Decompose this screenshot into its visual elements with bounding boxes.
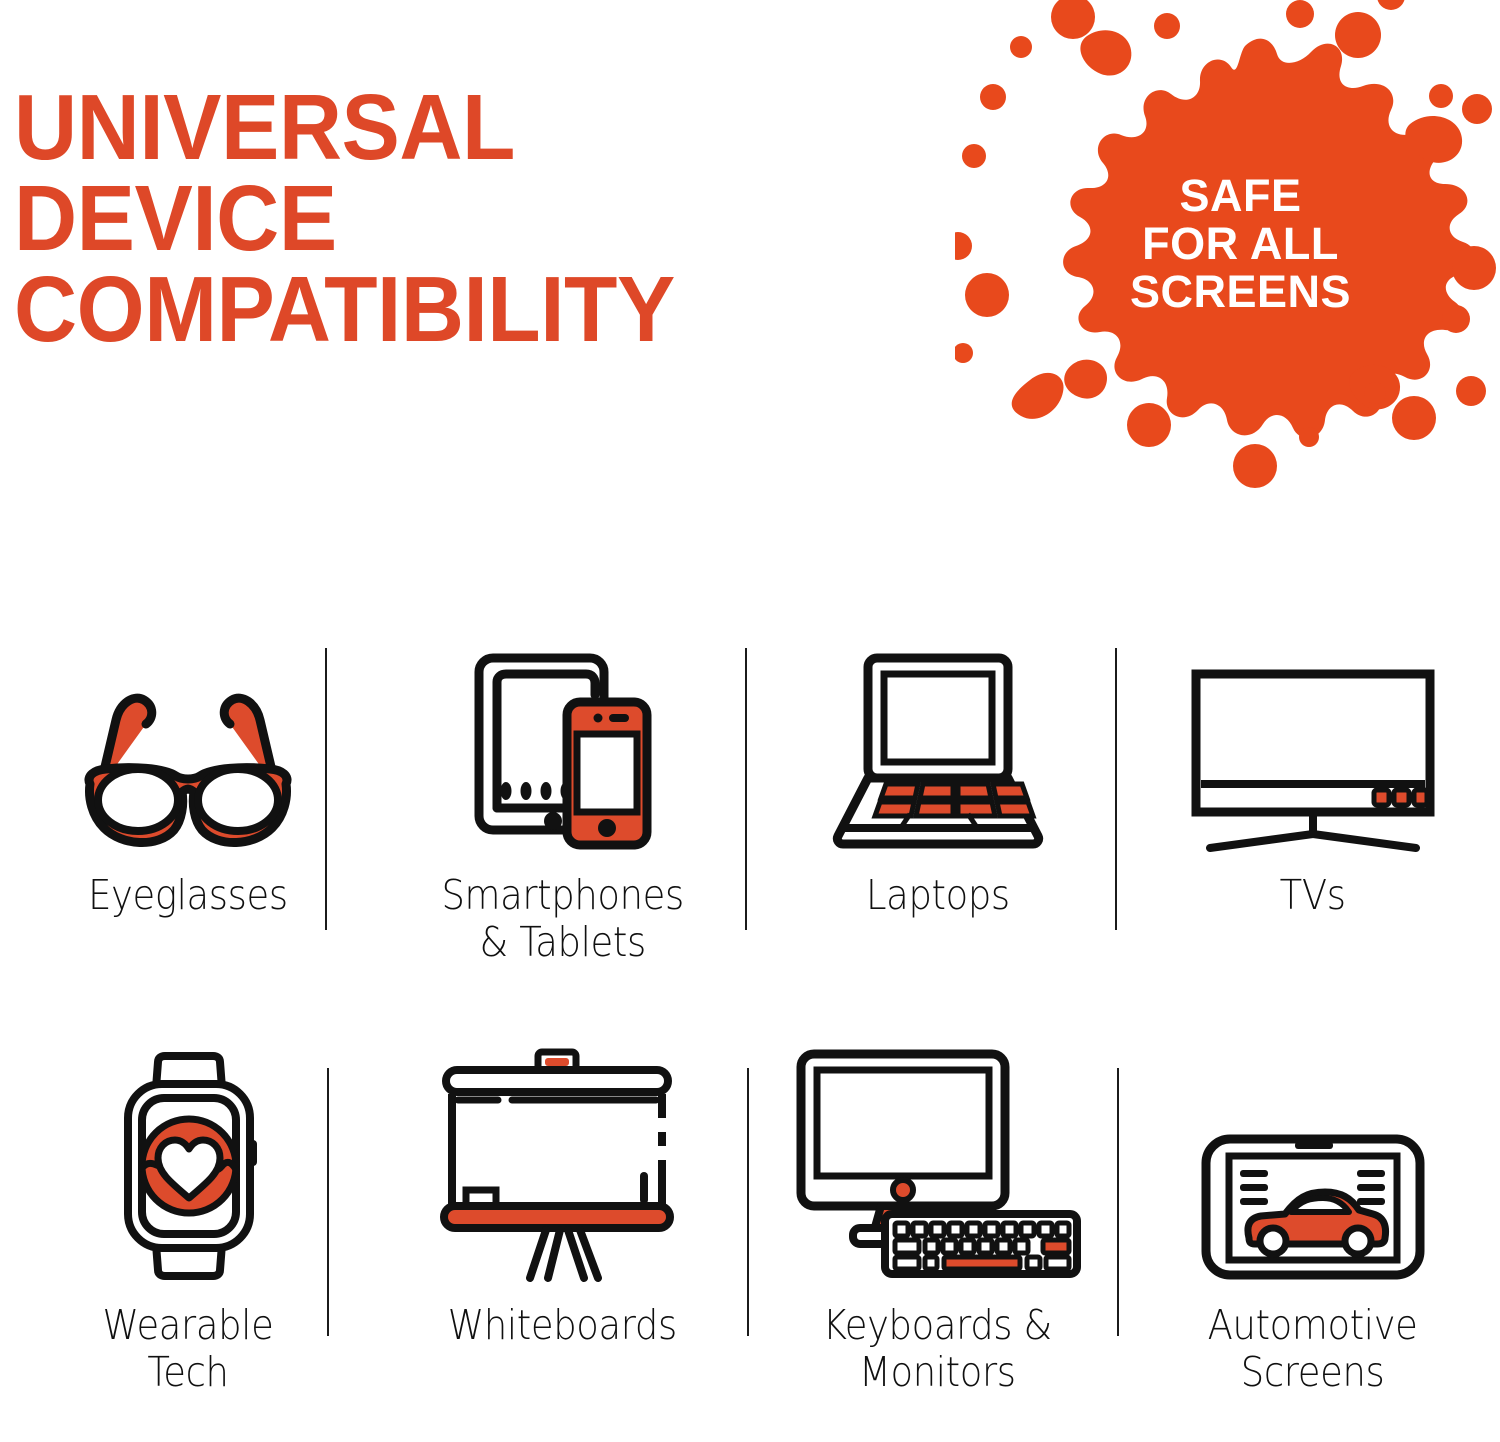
splat-shape [955, 0, 1496, 488]
grid-divider-2 [745, 648, 747, 930]
device-label-whiteboards: Whiteboards [448, 1302, 677, 1349]
device-label-smartphones-tablets: Smartphones & Tablets [441, 872, 683, 965]
device-label-line-2: Monitors [823, 1349, 1052, 1396]
device-grid: Eyeglasses [0, 620, 1500, 1442]
smartphone-tablet-icon [473, 620, 653, 850]
device-label-line-1: Keyboards & [823, 1301, 1052, 1349]
device-label-automotive-screens: Automotive Screens [1208, 1302, 1418, 1395]
grid-divider-4 [327, 1068, 329, 1336]
device-label-line-2: Tech [102, 1349, 273, 1396]
device-label-line-2: Screens [1208, 1349, 1418, 1396]
device-label-line-1: Automotive [1208, 1301, 1418, 1349]
device-label-wearable-tech: Wearable Tech [102, 1302, 273, 1395]
smartwatch-icon [108, 1050, 268, 1280]
grid-divider-3 [1115, 648, 1117, 930]
page-title-line-1: UNIVERSAL [14, 82, 879, 173]
device-row-1: Eyeglasses [0, 620, 1500, 1020]
grid-divider-1 [325, 648, 327, 930]
device-row-2: Wearable Tech [0, 1050, 1500, 1442]
device-label-line-1: Laptops [866, 871, 1010, 919]
device-label-eyeglasses: Eyeglasses [88, 872, 288, 919]
device-cell-eyeglasses: Eyeglasses [0, 620, 375, 1020]
device-cell-whiteboards: Whiteboards [375, 1050, 750, 1442]
device-cell-smartphones-tablets: Smartphones & Tablets [375, 620, 750, 1020]
device-cell-keyboards-monitors: Keyboards & Monitors [750, 1050, 1125, 1442]
device-label-line-1: Eyeglasses [88, 871, 288, 919]
page-title-line-2: DEVICE [14, 173, 879, 264]
device-label-line-1: Smartphones [441, 871, 683, 919]
grid-divider-6 [1117, 1068, 1119, 1336]
device-label-line-1: Whiteboards [448, 1301, 677, 1349]
page-title: UNIVERSAL DEVICE COMPATIBILITY [14, 82, 879, 355]
page-title-line-3: COMPATIBILITY [14, 264, 879, 355]
automotive-screen-icon [1201, 1050, 1425, 1280]
device-label-line-1: Wearable [102, 1301, 273, 1349]
monitor-keyboard-icon [795, 1050, 1081, 1280]
eyeglasses-icon [72, 620, 304, 850]
device-label-line-1: TVs [1280, 871, 1346, 919]
grid-divider-5 [747, 1068, 749, 1336]
tv-icon [1188, 620, 1438, 850]
device-cell-laptops: Laptops [750, 620, 1125, 1020]
device-cell-tvs: TVs [1125, 620, 1500, 1020]
device-label-line-2: & Tablets [441, 919, 683, 966]
device-cell-automotive-screens: Automotive Screens [1125, 1050, 1500, 1442]
laptop-icon [830, 620, 1046, 850]
whiteboard-easel-icon [438, 1050, 688, 1280]
device-label-tvs: TVs [1280, 872, 1346, 919]
device-label-laptops: Laptops [866, 872, 1010, 919]
safe-for-all-screens-badge: SAFE FOR ALL SCREENS [955, 0, 1500, 488]
device-label-keyboards-monitors: Keyboards & Monitors [823, 1302, 1052, 1395]
device-cell-wearable-tech: Wearable Tech [0, 1050, 375, 1442]
